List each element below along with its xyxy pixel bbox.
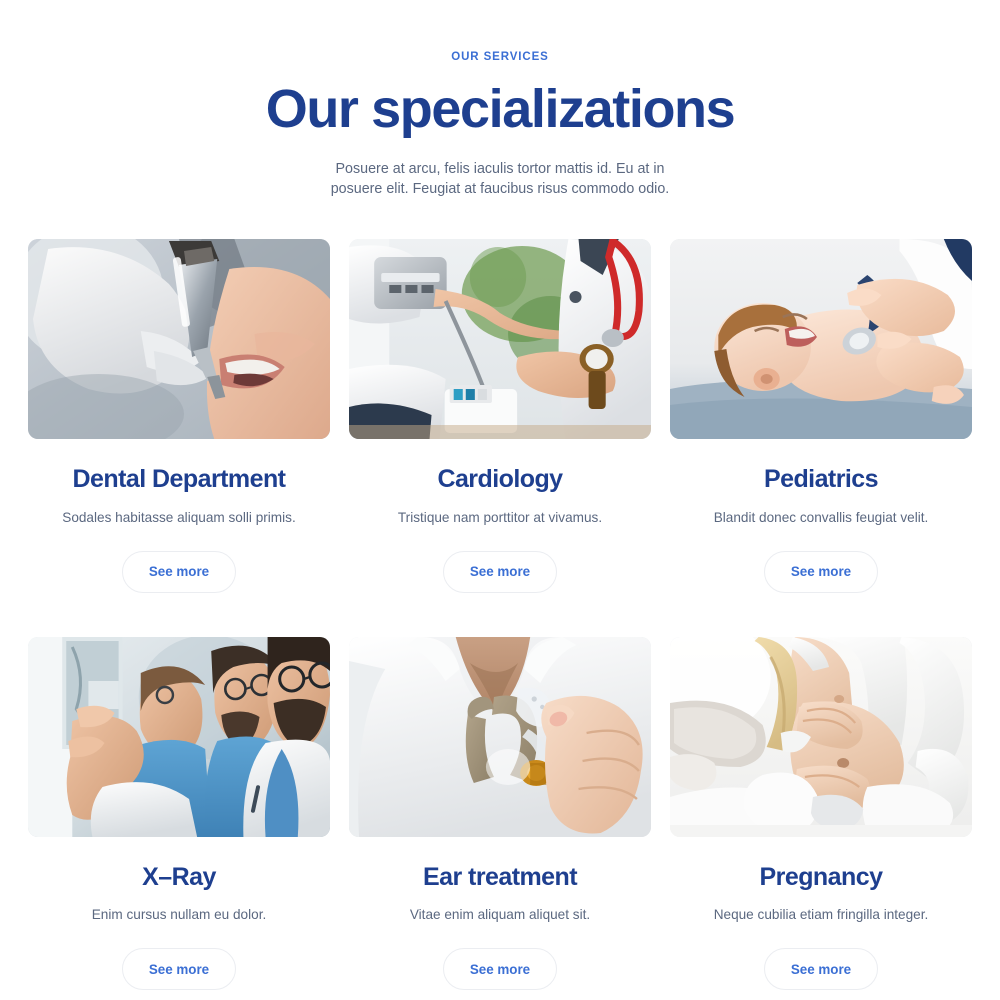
- service-card-pregnancy[interactable]: Pregnancy Neque cubilia etiam fringilla …: [670, 637, 972, 991]
- card-description: Tristique nam porttitor at vivamus.: [398, 508, 602, 527]
- cardiology-image: [349, 239, 651, 439]
- section-header: OUR SERVICES Our specializations Posuere…: [28, 0, 972, 199]
- blood-pressure-measurement-icon: [349, 239, 651, 439]
- pregnancy-image: [670, 637, 972, 837]
- card-title: Dental Department: [73, 466, 286, 494]
- ear-treatment-image: [349, 637, 651, 837]
- section-subtitle: Posuere at arcu, felis iaculis tortor ma…: [310, 159, 690, 200]
- services-section: OUR SERVICES Our specializations Posuere…: [0, 0, 1000, 1000]
- see-more-button[interactable]: See more: [122, 551, 236, 593]
- card-description: Vitae enim aliquam aliquet sit.: [410, 905, 590, 924]
- services-grid: Dental Department Sodales habitasse aliq…: [28, 239, 972, 990]
- card-description: Enim cursus nullam eu dolor.: [92, 905, 267, 924]
- pediatrics-image: [670, 239, 972, 439]
- service-card-xray[interactable]: X–Ray Enim cursus nullam eu dolor. See m…: [28, 637, 330, 991]
- see-more-button[interactable]: See more: [443, 948, 557, 990]
- see-more-button[interactable]: See more: [764, 551, 878, 593]
- card-title: X–Ray: [142, 864, 216, 892]
- dental-image: [28, 239, 330, 439]
- page-title: Our specializations: [28, 81, 972, 137]
- card-description: Sodales habitasse aliquam solli primis.: [62, 508, 295, 527]
- dentist-treating-patient-icon: [28, 239, 330, 439]
- section-eyebrow: OUR SERVICES: [28, 52, 972, 64]
- see-more-button[interactable]: See more: [443, 551, 557, 593]
- card-title: Pregnancy: [760, 864, 883, 892]
- service-card-dental[interactable]: Dental Department Sodales habitasse aliq…: [28, 239, 330, 593]
- service-card-ear-treatment[interactable]: Ear treatment Vitae enim aliquam aliquet…: [349, 637, 651, 991]
- pregnant-woman-holding-belly-icon: [670, 637, 972, 837]
- baby-examined-with-stethoscope-icon: [670, 239, 972, 439]
- doctors-reviewing-xray-film-icon: [28, 637, 330, 837]
- card-title: Cardiology: [437, 466, 562, 494]
- service-card-cardiology[interactable]: Cardiology Tristique nam porttitor at vi…: [349, 239, 651, 593]
- card-title: Ear treatment: [423, 864, 577, 892]
- see-more-button[interactable]: See more: [764, 948, 878, 990]
- see-more-button[interactable]: See more: [122, 948, 236, 990]
- hearing-aid-held-in-hand-icon: [349, 637, 651, 837]
- xray-image: [28, 637, 330, 837]
- card-description: Neque cubilia etiam fringilla integer.: [714, 905, 929, 924]
- card-description: Blandit donec convallis feugiat velit.: [714, 508, 929, 527]
- card-title: Pediatrics: [764, 466, 878, 494]
- service-card-pediatrics[interactable]: Pediatrics Blandit donec convallis feugi…: [670, 239, 972, 593]
